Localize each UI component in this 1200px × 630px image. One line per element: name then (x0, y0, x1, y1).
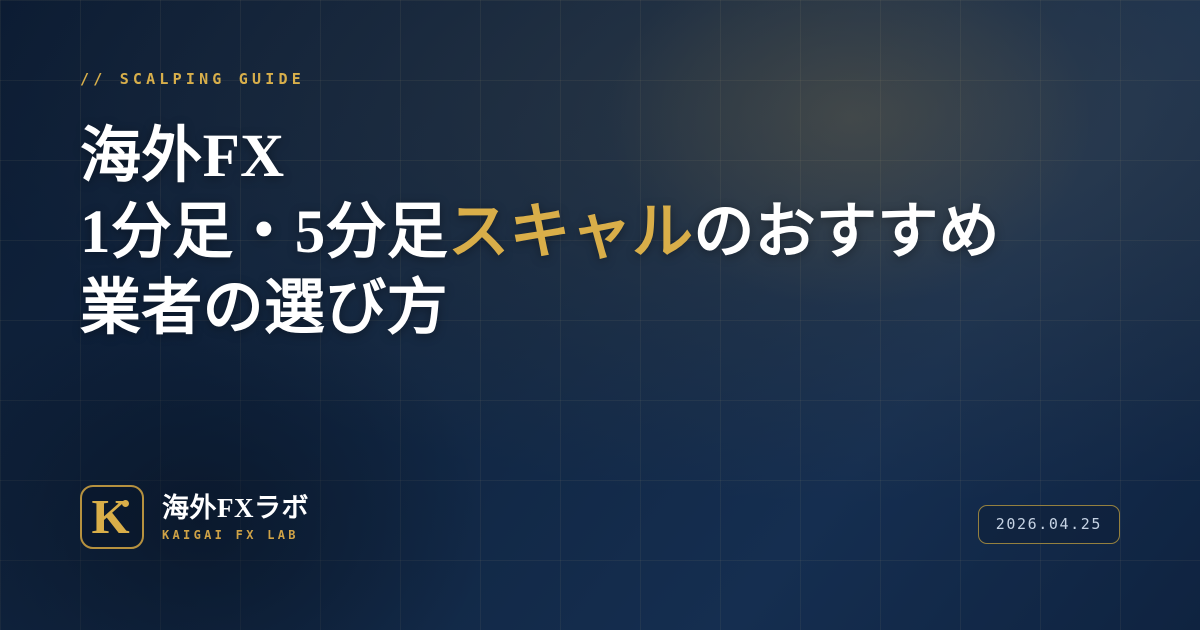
card-content: // SCALPING GUIDE 海外FX 1分足・5分足スキャルのおすすめ … (0, 0, 1200, 630)
logo-dot-icon (122, 500, 129, 507)
title-accent-text: スキャル (448, 199, 693, 266)
title-line-2: 1分足・5分足スキャルのおすすめ (80, 195, 1000, 271)
brand-subtitle: KAIGAI FX LAB (162, 527, 309, 543)
title-line-2-tail: のおすすめ (693, 199, 1000, 266)
brand-lockup: K 海外FXラボ KAIGAI FX LAB (80, 485, 309, 549)
title-line-1: 海外FX (80, 119, 1000, 195)
brand-text-group: 海外FXラボ KAIGAI FX LAB (162, 492, 309, 543)
title-line-3-text: 業者の選び方 (80, 275, 448, 342)
brand-name: 海外FXラボ (162, 492, 309, 524)
title-line-3: 業者の選び方 (80, 271, 1000, 347)
page-title: 海外FX 1分足・5分足スキャルのおすすめ 業者の選び方 (80, 119, 1000, 347)
brand-logo-icon: K (80, 485, 144, 549)
date-badge: 2026.04.25 (978, 505, 1120, 544)
og-card: // SCALPING GUIDE 海外FX 1分足・5分足スキャルのおすすめ … (0, 0, 1200, 630)
title-line-1-text: 海外FX (80, 123, 285, 190)
eyebrow-label: // SCALPING GUIDE (80, 70, 305, 88)
title-line-2-lead: 1分足・5分足 (80, 199, 448, 266)
logo-letter-k: K (82, 487, 142, 547)
